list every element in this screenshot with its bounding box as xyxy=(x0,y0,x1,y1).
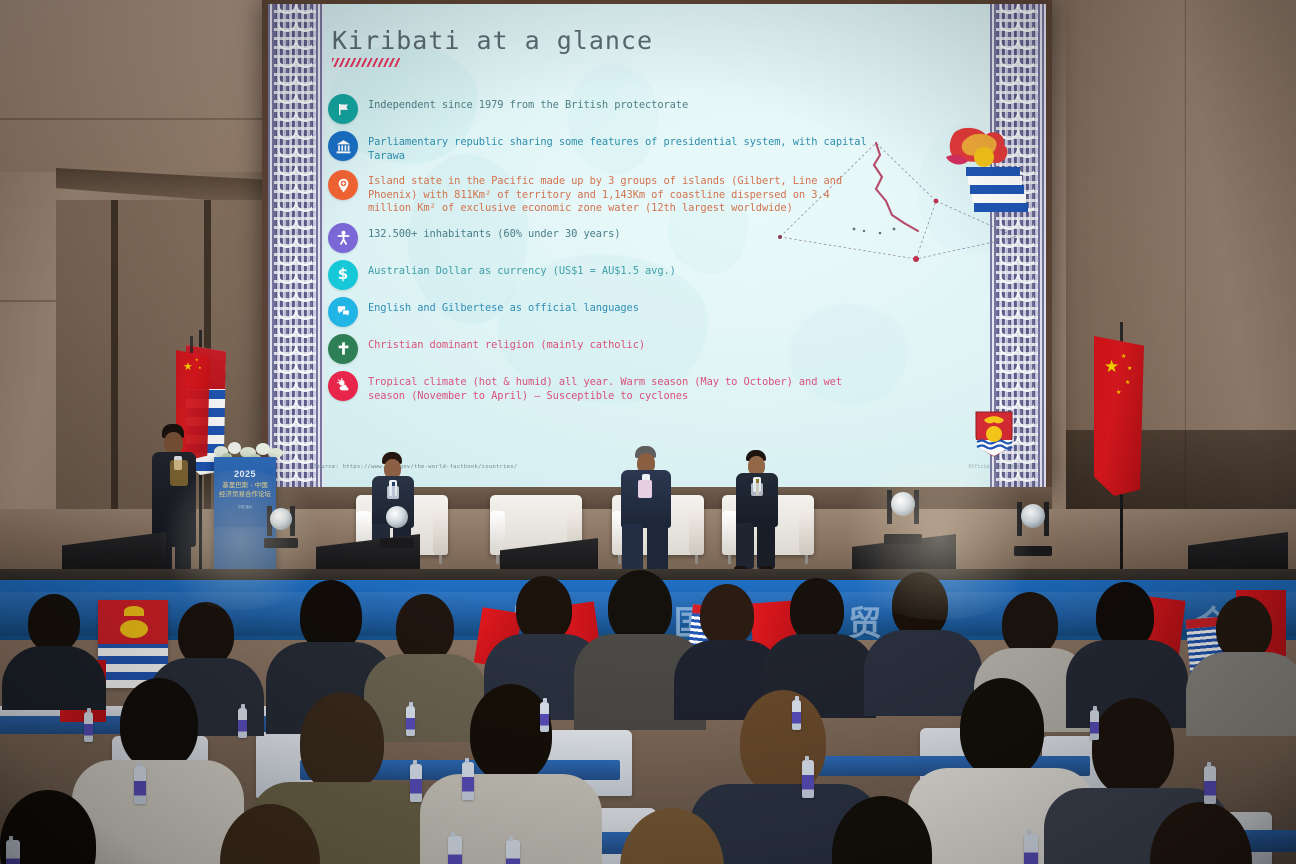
moving-head-light xyxy=(264,500,298,548)
government-building-icon xyxy=(328,131,358,161)
water-bottle xyxy=(238,708,247,738)
left-soffit xyxy=(0,0,262,172)
conference-hall-photo: Kiribati at a glance xyxy=(0,0,1296,864)
bullet-text: Christian dominant religion (mainly cath… xyxy=(368,334,645,353)
audience-head xyxy=(178,602,234,666)
map-pin-icon xyxy=(328,170,358,200)
presentation-screen: Kiribati at a glance xyxy=(268,4,1046,490)
flag-icon xyxy=(328,94,358,124)
audience-head xyxy=(516,576,572,642)
bullet-item: $ Australian Dollar as currency (US$1 = … xyxy=(328,260,868,290)
dollar-icon: $ xyxy=(328,260,358,290)
bullet-text: Independent since 1979 from the British … xyxy=(368,94,688,113)
water-bottle xyxy=(1204,766,1216,804)
moving-head-light xyxy=(1014,496,1052,556)
audience-head xyxy=(300,692,384,792)
audience-head xyxy=(470,684,552,782)
moving-head-light xyxy=(380,498,414,548)
bullet-item: Tropical climate (hot & humid) all year.… xyxy=(328,371,868,403)
bullet-text: Island state in the Pacific made up by 3… xyxy=(368,170,868,216)
audience-head xyxy=(892,572,948,638)
bullet-text: Tropical climate (hot & humid) all year.… xyxy=(368,371,868,403)
water-bottle xyxy=(506,840,520,864)
audience-head xyxy=(120,678,198,770)
water-bottle xyxy=(410,764,422,802)
water-bottle xyxy=(802,760,814,798)
water-bottle xyxy=(1090,710,1099,740)
podium-year: 2025 xyxy=(214,469,276,479)
bullet-text: Australian Dollar as currency (US$1 = AU… xyxy=(368,260,676,279)
audience-shoulders xyxy=(72,760,244,864)
bullet-item: Parliamentary republic sharing some feat… xyxy=(328,131,868,163)
audience-shoulders xyxy=(1186,652,1296,736)
audience-shoulders xyxy=(2,646,106,710)
audience-head xyxy=(790,578,844,642)
water-bottle xyxy=(406,706,415,736)
audience-head xyxy=(608,570,672,644)
moving-head-light xyxy=(884,482,922,544)
water-bottle xyxy=(540,702,549,732)
kiribati-coat-of-arms: Official Use Only xyxy=(964,410,1024,476)
bullet-text: Parliamentary republic sharing some feat… xyxy=(368,131,868,163)
audience-head xyxy=(396,594,454,662)
audience-head xyxy=(28,594,80,652)
slide-source-citation: Source: https://www.cia.gov/the-world-fa… xyxy=(314,464,517,470)
audience-head xyxy=(960,678,1044,778)
person-icon xyxy=(328,223,358,253)
slide-bullet-list: Independent since 1979 from the British … xyxy=(328,94,868,410)
bullet-item: Island state in the Pacific made up by 3… xyxy=(328,170,868,216)
cross-icon xyxy=(328,334,358,364)
bullet-text: English and Gilbertese as official langu… xyxy=(368,297,639,316)
audience-head xyxy=(1092,698,1174,796)
bullet-item: Independent since 1979 from the British … xyxy=(328,94,868,124)
audience-head xyxy=(1002,592,1058,656)
podium-subtitle-cn: 经济贸易合作论坛 xyxy=(214,490,276,498)
audience-head xyxy=(700,584,754,646)
audience-area xyxy=(0,560,1296,864)
title-underline-accent xyxy=(332,58,400,67)
water-bottle xyxy=(6,840,20,864)
chat-bubble-icon xyxy=(328,297,358,327)
water-bottle xyxy=(134,766,146,804)
slide-border-left xyxy=(268,4,324,490)
water-bottle xyxy=(84,712,93,742)
bullet-item: 132.500+ inhabitants (60% under 30 years… xyxy=(328,223,868,253)
slide-title: Kiribati at a glance xyxy=(332,26,653,55)
water-bottle xyxy=(448,836,462,864)
water-bottle xyxy=(462,762,474,800)
emblem-caption: Official Use Only xyxy=(964,464,1024,470)
bullet-item: English and Gilbertese as official langu… xyxy=(328,297,868,327)
weather-sun-cloud-icon xyxy=(328,371,358,401)
bullet-item: Christian dominant religion (mainly cath… xyxy=(328,334,868,364)
audience-head xyxy=(1216,596,1272,660)
water-bottle xyxy=(1024,834,1038,864)
podium-title-cn: 基里巴斯 - 中国 xyxy=(214,481,276,489)
water-bottle xyxy=(792,700,801,730)
bullet-text: 132.500+ inhabitants (60% under 30 years… xyxy=(368,223,620,242)
